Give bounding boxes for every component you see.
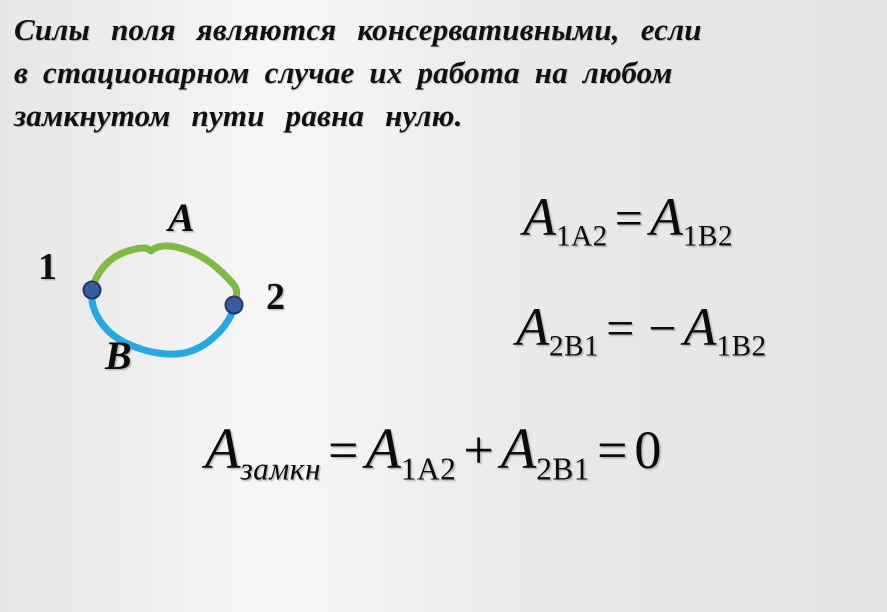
statement-line-2: в стационарном случае их работа на любом: [14, 51, 876, 94]
eq2-rhs: A1B2: [684, 297, 767, 357]
path-a-curve: [92, 246, 237, 305]
eq3-operator-2: +: [456, 420, 500, 480]
node-point-2: [226, 297, 243, 314]
label-point-1: 1: [38, 248, 57, 286]
statement-text: Силы поля являются консервативными, если…: [14, 8, 876, 137]
eq3-operator-3: =: [590, 420, 634, 480]
equation-3: Aзамкн=A1A2+A2B1=0: [205, 420, 661, 485]
eq2-lhs: A2B1: [516, 297, 599, 357]
eq1-rhs: A1B2: [650, 187, 733, 247]
slide-canvas: Силы поля являются консервативными, если…: [0, 0, 887, 612]
eq3-operator-1: =: [321, 420, 365, 480]
eq2-minus-sign: −: [641, 300, 683, 356]
equation-1: A1A2=A1B2: [523, 190, 733, 252]
eq3-result: 0: [634, 420, 661, 480]
eq2-operator: =: [599, 300, 641, 356]
node-point-1: [84, 282, 101, 299]
eq1-operator: =: [608, 190, 650, 246]
statement-line-1: Силы поля являются консервативными, если: [14, 8, 876, 51]
eq3-lhs: Aзамкн: [205, 416, 321, 481]
equation-2: A2B1=−A1B2: [516, 300, 767, 362]
eq3-term-2: A2B1: [501, 416, 590, 481]
statement-line-3: замкнутом пути равна нулю.: [14, 94, 876, 137]
eq1-lhs: A1A2: [523, 187, 608, 247]
label-point-2: 2: [266, 278, 285, 316]
label-path-b: B: [105, 336, 132, 376]
label-path-a: A: [168, 198, 195, 238]
eq3-term-1: A1A2: [365, 416, 456, 481]
